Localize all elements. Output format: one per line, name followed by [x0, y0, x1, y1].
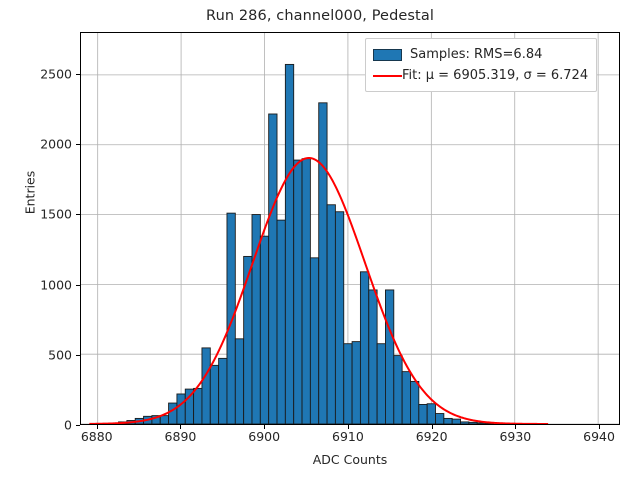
histogram-bar [194, 388, 202, 424]
histogram-bar [327, 205, 335, 424]
histogram-bar [244, 256, 252, 424]
legend-patch-swatch-icon [373, 49, 402, 61]
chart-title: Run 286, channel000, Pedestal [0, 8, 640, 24]
histogram-bar [335, 212, 343, 424]
histogram-bar [377, 344, 385, 424]
histogram-bar [310, 258, 318, 424]
histogram-bar [461, 422, 469, 424]
x-tick-label: 6900 [248, 429, 280, 444]
histogram-bar [277, 220, 285, 424]
histogram-bar [435, 414, 443, 424]
legend-item-fit: Fit: μ = 6905.319, σ = 6.724 [373, 65, 588, 86]
histogram-bar [235, 339, 243, 424]
histogram-bar [302, 159, 310, 424]
histogram-bar [202, 348, 210, 424]
y-tick-label: 500 [0, 347, 72, 362]
y-tick-mark [76, 425, 80, 426]
histogram-bar [210, 365, 218, 424]
histogram-bar [260, 236, 268, 424]
histogram-bar [452, 419, 460, 424]
histogram-bar [169, 403, 177, 424]
histogram-bar [369, 290, 377, 424]
histogram-bar [394, 356, 402, 424]
histogram-bar [319, 103, 327, 424]
histogram-bar [410, 381, 418, 424]
x-axis-label: ADC Counts [80, 452, 620, 467]
histogram-bar [160, 416, 168, 424]
x-tick-label: 6880 [81, 429, 113, 444]
legend-line-swatch-icon [373, 70, 402, 82]
histogram-bar [419, 404, 427, 424]
y-tick-label: 1000 [0, 277, 72, 292]
histogram-bar [227, 213, 235, 424]
x-tick-label: 6940 [583, 429, 615, 444]
histogram-bar [177, 394, 185, 424]
histogram-bar [352, 342, 360, 424]
y-tick-label: 0 [0, 418, 72, 433]
y-tick-mark [76, 285, 80, 286]
histogram-bar [344, 344, 352, 424]
y-tick-mark [76, 74, 80, 75]
legend-box: Samples: RMS=6.84 Fit: μ = 6905.319, σ =… [365, 38, 597, 92]
legend-item-samples: Samples: RMS=6.84 [373, 44, 588, 65]
x-tick-label: 6930 [499, 429, 531, 444]
histogram-bar [219, 358, 227, 424]
histogram-bar [444, 418, 452, 424]
histogram-bar [360, 272, 368, 424]
y-tick-mark [76, 355, 80, 356]
y-tick-label: 2500 [0, 67, 72, 82]
histogram-bar [385, 290, 393, 424]
x-tick-label: 6920 [416, 429, 448, 444]
x-tick-label: 6890 [165, 429, 197, 444]
legend-label-samples: Samples: RMS=6.84 [410, 47, 542, 62]
y-tick-mark [76, 144, 80, 145]
histogram-bar [269, 114, 277, 424]
histogram-bar [285, 64, 293, 424]
legend-label-fit: Fit: μ = 6905.319, σ = 6.724 [402, 68, 588, 83]
histogram-bar [294, 160, 302, 424]
histogram-bar [427, 404, 435, 424]
histogram-bar [477, 423, 485, 424]
figure-canvas: Run 286, channel000, Pedestal Entries AD… [0, 0, 640, 480]
y-tick-label: 1500 [0, 207, 72, 222]
histogram-bar [469, 422, 477, 424]
y-tick-mark [76, 214, 80, 215]
y-tick-label: 2000 [0, 137, 72, 152]
x-tick-label: 6910 [332, 429, 364, 444]
y-axis-label: Entries [23, 0, 38, 393]
histogram-bar [402, 372, 410, 424]
